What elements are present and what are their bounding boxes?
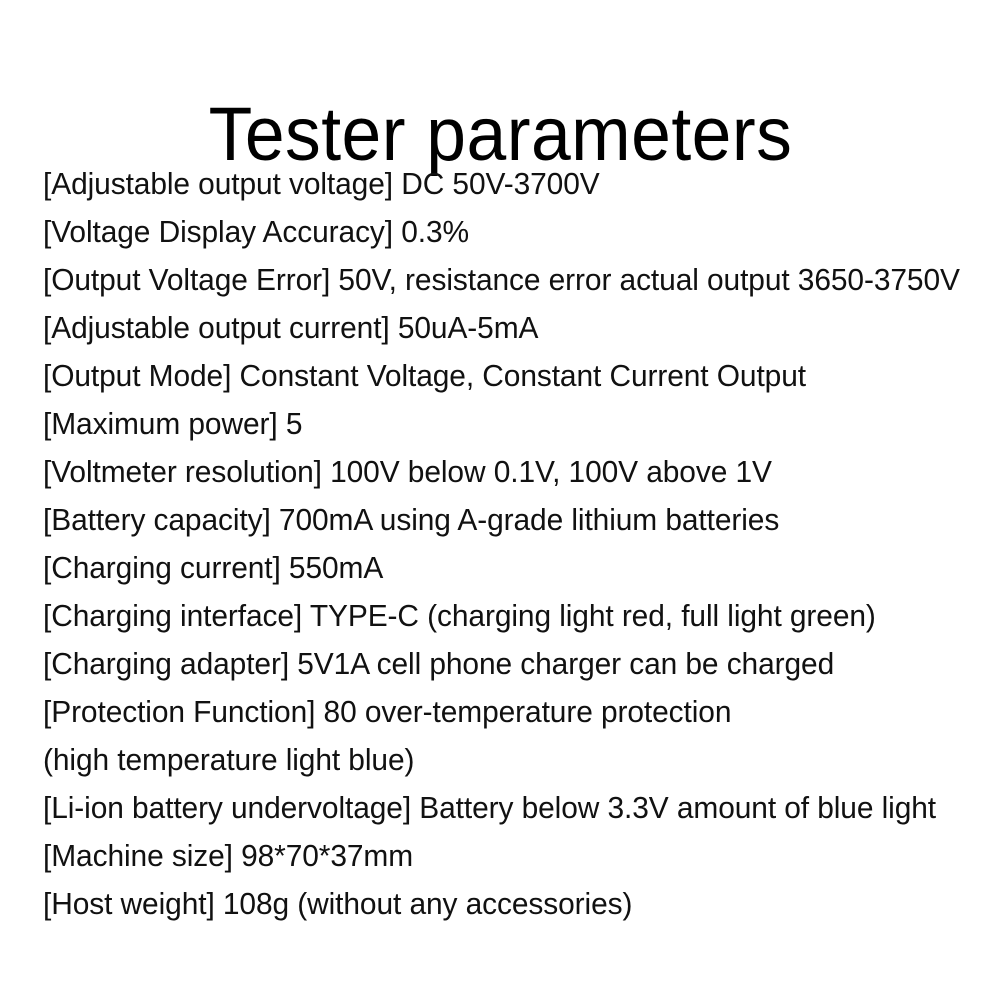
spec-line: [Charging interface] TYPE-C (charging li… [43, 592, 940, 640]
spec-line: (high temperature light blue) [43, 736, 940, 784]
spec-line: [Voltmeter resolution] 100V below 0.1V, … [43, 448, 940, 496]
spec-line: [Li-ion battery undervoltage] Battery be… [43, 784, 940, 832]
spec-line: [Output Voltage Error] 50V, resistance e… [43, 256, 940, 304]
spec-sheet-page: Tester parameters [Adjustable output vol… [0, 0, 1000, 1000]
spec-line: [Charging adapter] 5V1A cell phone charg… [43, 640, 940, 688]
spec-line: [Voltage Display Accuracy] 0.3% [43, 208, 940, 256]
spec-line: [Protection Function] 80 over-temperatur… [43, 688, 940, 736]
spec-line: [Battery capacity] 700mA using A-grade l… [43, 496, 940, 544]
spec-line: [Host weight] 108g (without any accessor… [43, 880, 940, 928]
spec-line: [Output Mode] Constant Voltage, Constant… [43, 352, 940, 400]
spec-line: [Charging current] 550mA [43, 544, 940, 592]
spec-line: [Maximum power] 5 [43, 400, 940, 448]
spec-line: [Adjustable output current] 50uA-5mA [43, 304, 940, 352]
spec-line: [Machine size] 98*70*37mm [43, 832, 940, 880]
spec-line: [Adjustable output voltage] DC 50V-3700V [43, 160, 940, 208]
specification-list: [Adjustable output voltage] DC 50V-3700V… [43, 160, 973, 928]
